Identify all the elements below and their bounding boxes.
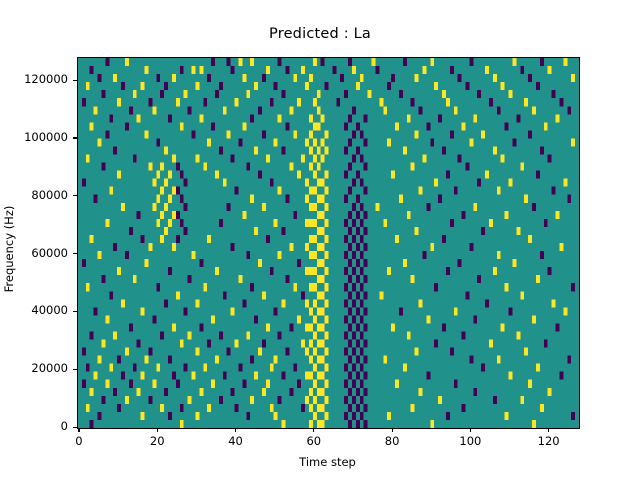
x-tick-mark (470, 428, 471, 432)
y-tick-label: 0 (0, 419, 68, 433)
plot-axes (77, 57, 580, 429)
heatmap-image (78, 58, 579, 428)
y-tick-mark (73, 80, 77, 81)
x-tick-mark (548, 428, 549, 432)
y-tick-mark (73, 311, 77, 312)
x-tick-mark (157, 428, 158, 432)
y-tick-label: 100000 (0, 130, 68, 144)
x-tick-label: 80 (362, 434, 422, 448)
y-tick-mark (73, 253, 77, 254)
x-tick-label: 0 (49, 434, 109, 448)
matplotlib-figure: Predicted : La Frequency (Hz) 0200004000… (0, 0, 640, 480)
x-axis-label: Time step (77, 455, 578, 469)
y-tick-mark (73, 195, 77, 196)
x-tick-label: 40 (206, 434, 266, 448)
y-tick-label: 120000 (0, 72, 68, 86)
x-tick-mark (313, 428, 314, 432)
y-tick-mark (73, 137, 77, 138)
y-tick-mark (73, 369, 77, 370)
x-tick-label: 60 (284, 434, 344, 448)
y-tick-label: 80000 (0, 188, 68, 202)
plot-title: Predicted : La (0, 26, 640, 42)
x-tick-mark (392, 428, 393, 432)
x-tick-label: 20 (127, 434, 187, 448)
y-tick-label: 20000 (0, 361, 68, 375)
y-tick-label: 60000 (0, 246, 68, 260)
heatmap-canvas (78, 58, 579, 428)
x-tick-label: 120 (519, 434, 579, 448)
x-tick-mark (78, 428, 79, 432)
y-tick-label: 40000 (0, 303, 68, 317)
x-tick-label: 100 (440, 434, 500, 448)
y-tick-mark (73, 427, 77, 428)
x-tick-mark (235, 428, 236, 432)
